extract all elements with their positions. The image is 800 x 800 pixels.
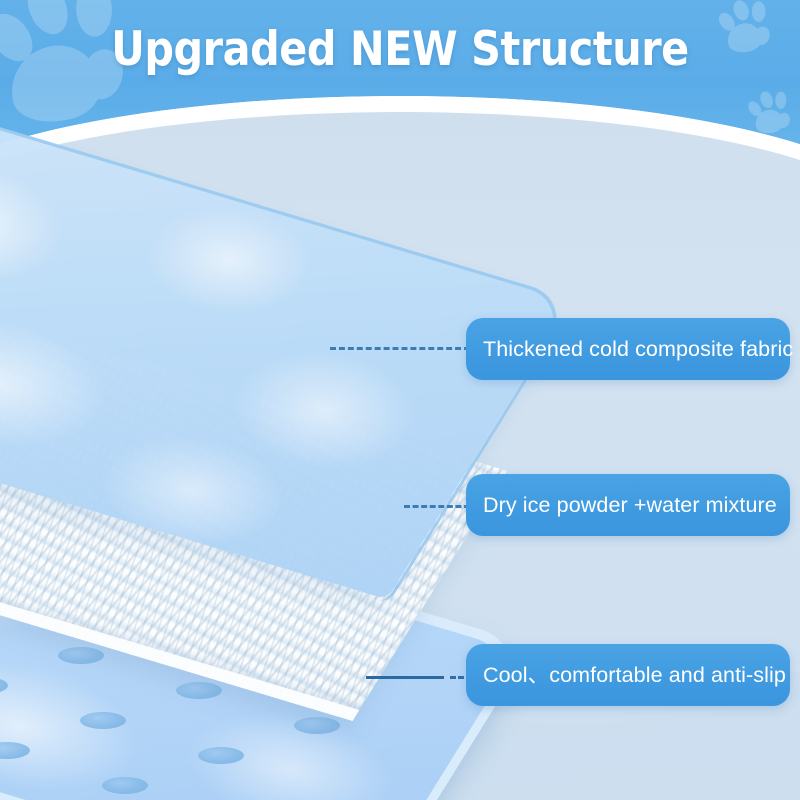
- leader-line-fabric: [330, 347, 470, 350]
- anti-slip-dot: [80, 712, 126, 729]
- anti-slip-dot: [294, 717, 340, 734]
- callout-antislip[interactable]: Cool、comfortable and anti-slip: [466, 644, 790, 706]
- anti-slip-dot: [198, 747, 244, 764]
- leader-line-antislip: [366, 676, 444, 679]
- leader-line-mixture: [404, 505, 470, 508]
- callout-fabric[interactable]: Thickened cold composite fabric: [466, 318, 790, 380]
- callout-fabric-label: Thickened cold composite fabric: [466, 337, 800, 361]
- infographic-canvas: Upgraded NEW Structure Thickened cold co…: [0, 0, 800, 800]
- callout-antislip-label: Cool、comfortable and anti-slip: [466, 663, 800, 687]
- callout-mixture-label: Dry ice powder +water mixture: [466, 493, 794, 517]
- callout-mixture[interactable]: Dry ice powder +water mixture: [466, 474, 790, 536]
- anti-slip-dot: [58, 647, 104, 664]
- anti-slip-dot: [176, 682, 222, 699]
- anti-slip-dot: [102, 777, 148, 794]
